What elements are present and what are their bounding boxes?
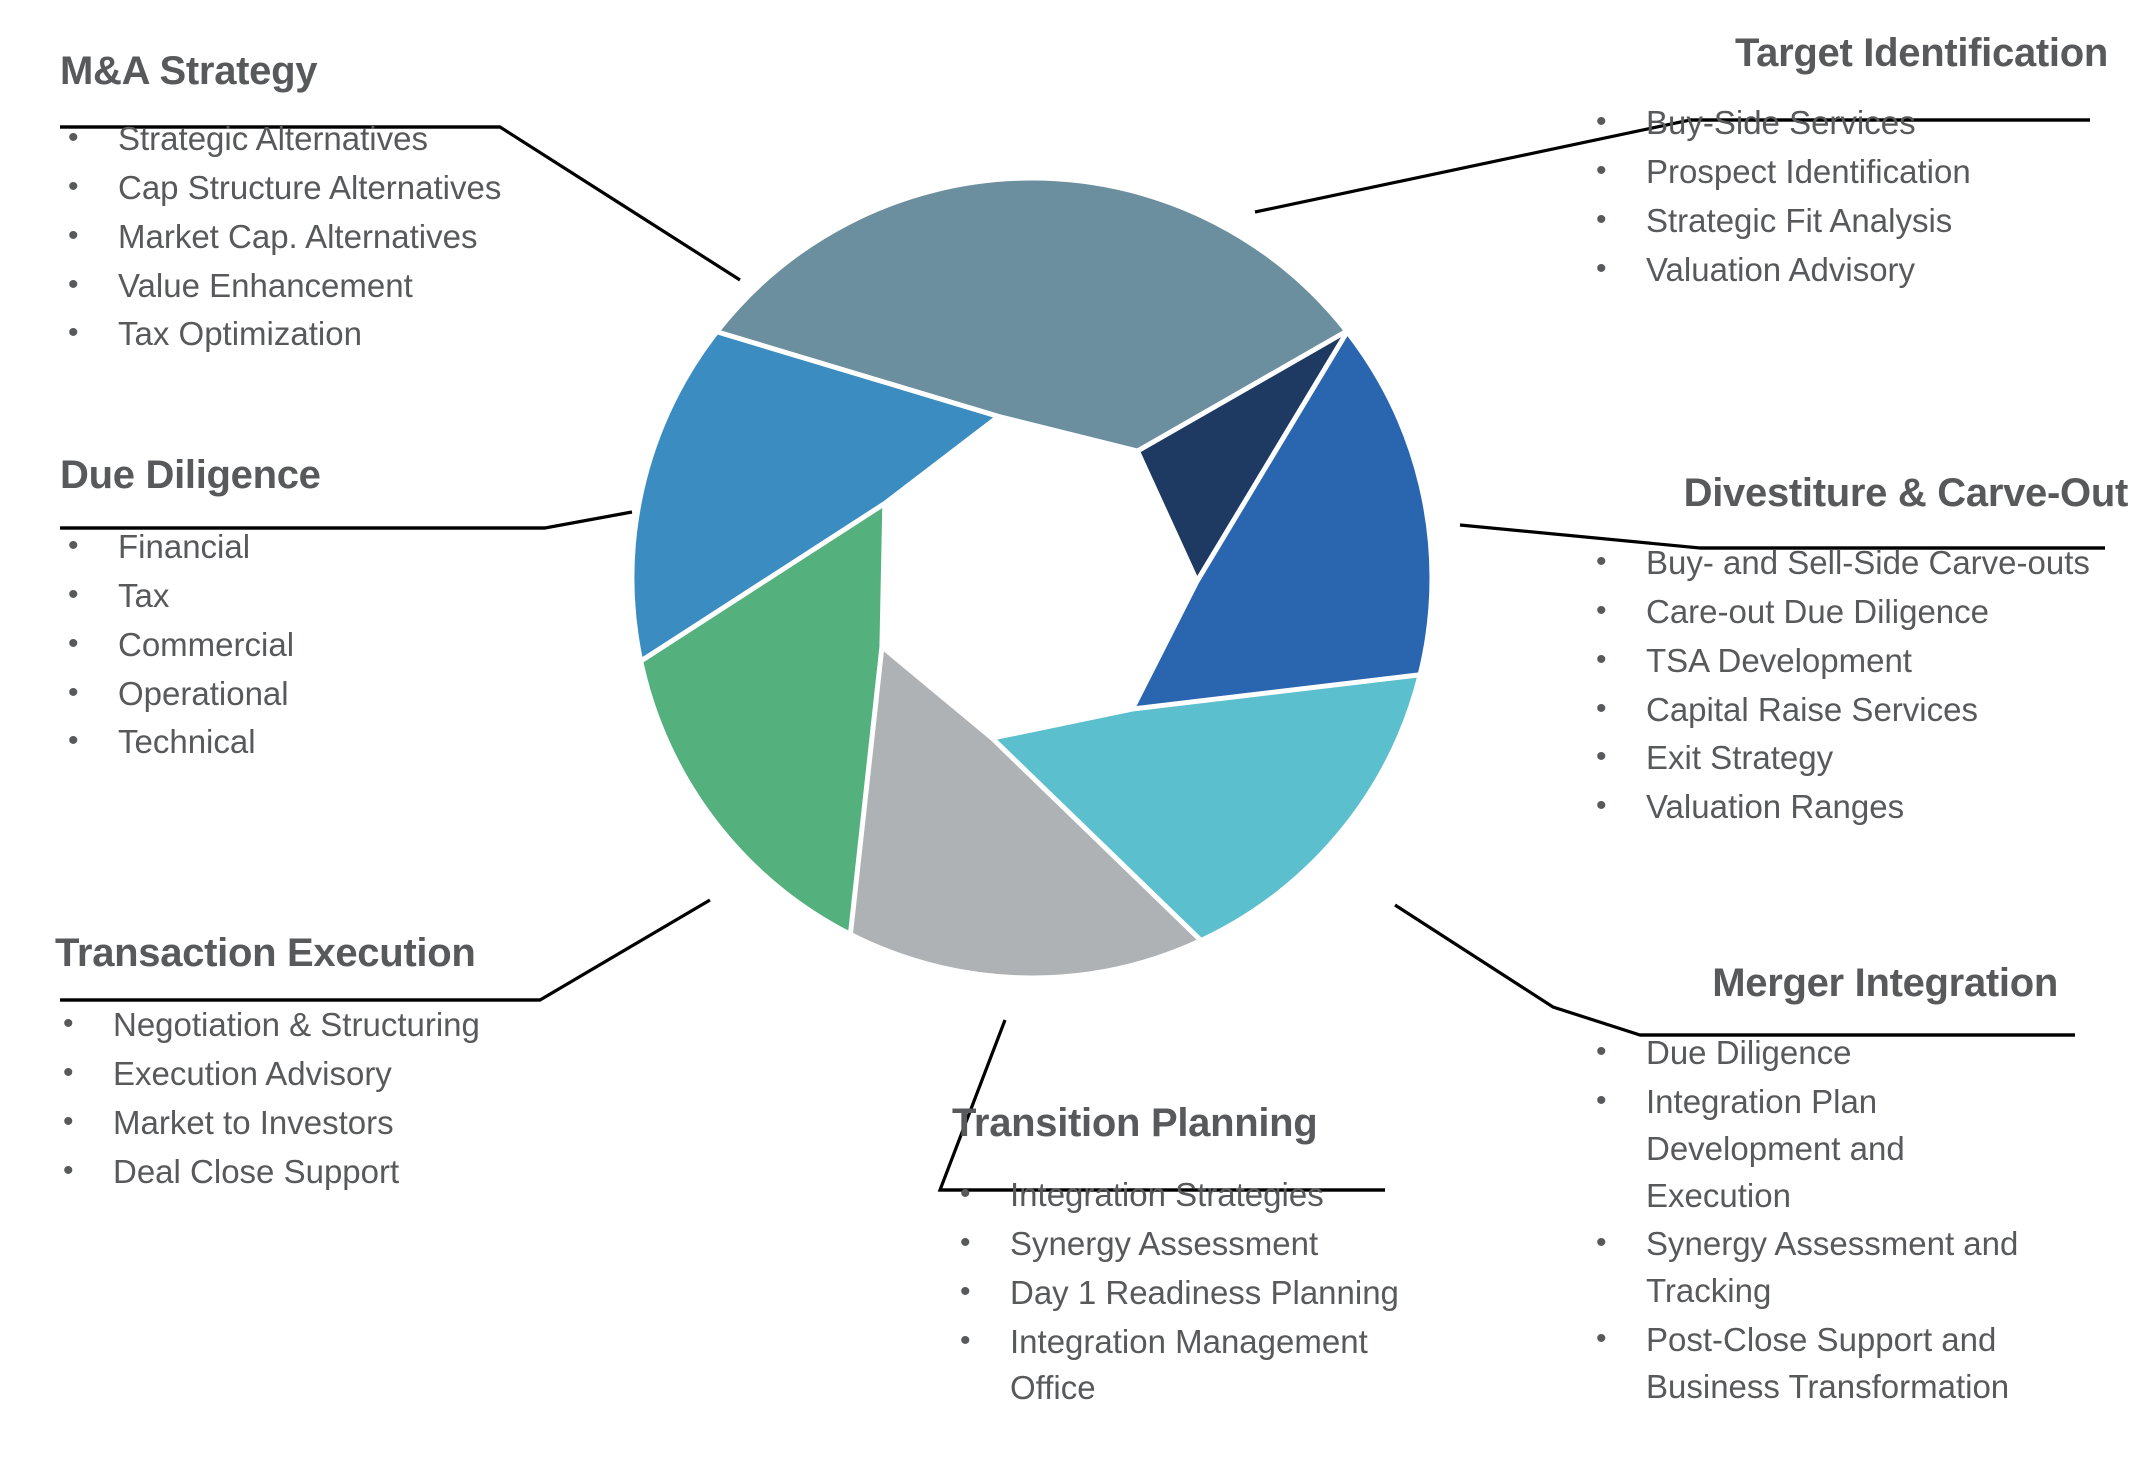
panel-divestiture-carveout: Divestiture & Carve-Out Buy- and Sell-Si…: [1588, 470, 2128, 833]
list-item: Care-out Due Diligence: [1588, 589, 2128, 636]
list-item: TSA Development: [1588, 638, 2128, 685]
list-item: Commercial: [60, 622, 600, 669]
panel-merger-integration: Merger Integration Due Diligence Integra…: [1588, 960, 2058, 1413]
panel-transition-planning: Transition Planning Integration Strategi…: [952, 1100, 1432, 1414]
list-ma-strategy: Strategic Alternatives Cap Structure Alt…: [60, 116, 600, 358]
list-due-diligence: Financial Tax Commercial Operational Tec…: [60, 524, 600, 766]
panel-title-transition-planning: Transition Planning: [952, 1100, 1432, 1146]
panel-target-identification: Target Identification Buy-Side Services …: [1588, 30, 2108, 295]
list-item: Strategic Fit Analysis: [1588, 198, 2108, 245]
list-item: Tax: [60, 573, 600, 620]
list-item: Buy-Side Services: [1588, 100, 2108, 147]
list-item: Due Diligence: [1588, 1030, 2058, 1077]
panel-title-ma-strategy: M&A Strategy: [60, 48, 600, 94]
list-item: Synergy Assessment: [952, 1221, 1432, 1268]
panel-title-merger-integration: Merger Integration: [1588, 960, 2058, 1006]
panel-transaction-execution: Transaction Execution Negotiation & Stru…: [55, 930, 615, 1197]
diagram-canvas: M&A Strategy Strategic Alternatives Cap …: [0, 0, 2150, 1476]
list-item: Integration Plan Development and Executi…: [1588, 1079, 2058, 1220]
panel-title-due-diligence: Due Diligence: [60, 452, 600, 498]
panel-title-transaction-execution: Transaction Execution: [55, 930, 615, 976]
list-item: Synergy Assessment and Tracking: [1588, 1221, 2058, 1315]
list-target-identification: Buy-Side Services Prospect Identificatio…: [1588, 100, 2108, 293]
list-item: Tax Optimization: [60, 311, 600, 358]
list-item: Exit Strategy: [1588, 735, 2128, 782]
list-item: Buy- and Sell-Side Carve-outs: [1588, 540, 2128, 587]
list-item: Operational: [60, 671, 600, 718]
list-item: Cap Structure Alternatives: [60, 165, 600, 212]
list-item: Execution Advisory: [55, 1051, 615, 1098]
panel-due-diligence: Due Diligence Financial Tax Commercial O…: [60, 452, 600, 768]
list-item: Day 1 Readiness Planning: [952, 1270, 1432, 1317]
list-item: Prospect Identification: [1588, 149, 2108, 196]
list-item: Market to Investors: [55, 1100, 615, 1147]
aperture-blades: [632, 178, 1432, 978]
list-divestiture-carveout: Buy- and Sell-Side Carve-outs Care-out D…: [1588, 540, 2128, 831]
list-item: Post-Close Support and Business Transfor…: [1588, 1317, 2058, 1411]
list-item: Valuation Advisory: [1588, 247, 2108, 294]
list-item: Market Cap. Alternatives: [60, 214, 600, 261]
panel-title-divestiture-carveout: Divestiture & Carve-Out: [1588, 470, 2128, 516]
list-item: Deal Close Support: [55, 1149, 615, 1196]
list-item: Technical: [60, 719, 600, 766]
list-item: Financial: [60, 524, 600, 571]
panel-ma-strategy: M&A Strategy Strategic Alternatives Cap …: [60, 48, 600, 360]
list-merger-integration: Due Diligence Integration Plan Developme…: [1588, 1030, 2058, 1411]
panel-title-target-identification: Target Identification: [1588, 30, 2108, 76]
list-item: Strategic Alternatives: [60, 116, 600, 163]
list-item: Negotiation & Structuring: [55, 1002, 615, 1049]
list-transition-planning: Integration Strategies Synergy Assessmen…: [952, 1172, 1432, 1412]
list-item: Valuation Ranges: [1588, 784, 2128, 831]
list-item: Capital Raise Services: [1588, 687, 2128, 734]
list-transaction-execution: Negotiation & Structuring Execution Advi…: [55, 1002, 615, 1195]
list-item: Integration Management Office: [952, 1319, 1432, 1413]
list-item: Integration Strategies: [952, 1172, 1432, 1219]
list-item: Value Enhancement: [60, 263, 600, 310]
